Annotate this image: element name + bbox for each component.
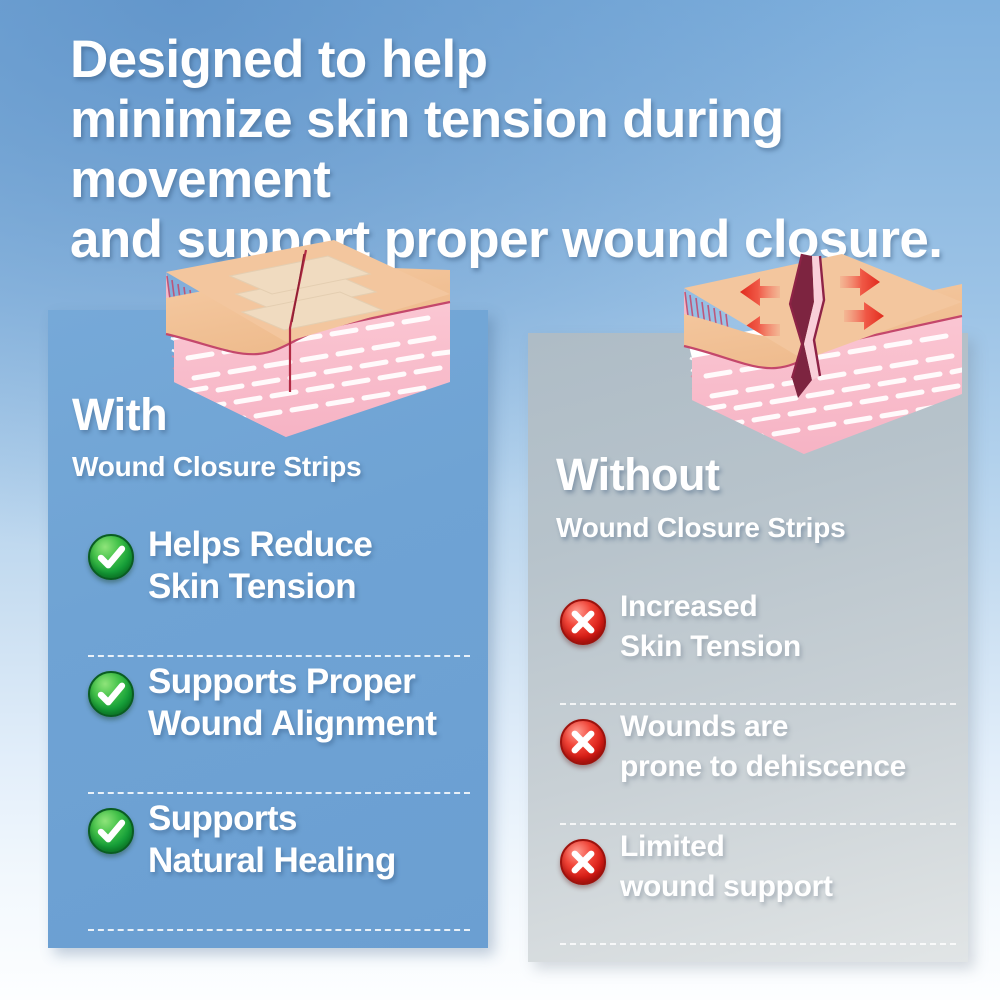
check-circle-icon [88,808,134,854]
list-item-label: Increased Skin Tension [620,585,801,667]
without-drawbacks-list: Increased Skin Tension Wounds are prone … [528,585,968,945]
list-item: Limited wound support [528,825,968,945]
panel-without-subtitle: Wound Closure Strips [556,513,846,543]
list-item-label: Limited wound support [620,825,833,907]
infographic-stage: Designed to help minimize skin tension d… [0,0,1000,1000]
check-circle-icon [88,534,134,580]
list-item: Increased Skin Tension [528,585,968,705]
list-item-label: Supports Proper Wound Alignment [148,657,436,745]
cross-circle-icon [560,839,606,885]
with-benefits-list: Helps Reduce Skin Tension Supports Prope… [48,520,488,931]
list-item: Supports Natural Healing [48,794,488,931]
check-circle-icon [88,671,134,717]
skin-cross-section-with-strips-illustration [138,232,458,452]
cross-circle-icon [560,599,606,645]
list-item: Helps Reduce Skin Tension [48,520,488,657]
list-divider [560,943,956,945]
list-item-label: Wounds are prone to dehiscence [620,705,906,787]
list-item: Supports Proper Wound Alignment [48,657,488,794]
list-item: Wounds are prone to dehiscence [528,705,968,825]
panel-without-title: Without [556,452,720,498]
list-item-label: Supports Natural Healing [148,794,396,882]
panel-with-title: With [72,392,167,438]
skin-cross-section-open-wound-illustration [662,248,976,466]
cross-circle-icon [560,719,606,765]
panel-with-subtitle: Wound Closure Strips [72,452,362,482]
list-item-label: Helps Reduce Skin Tension [148,520,372,608]
list-divider [88,929,470,931]
